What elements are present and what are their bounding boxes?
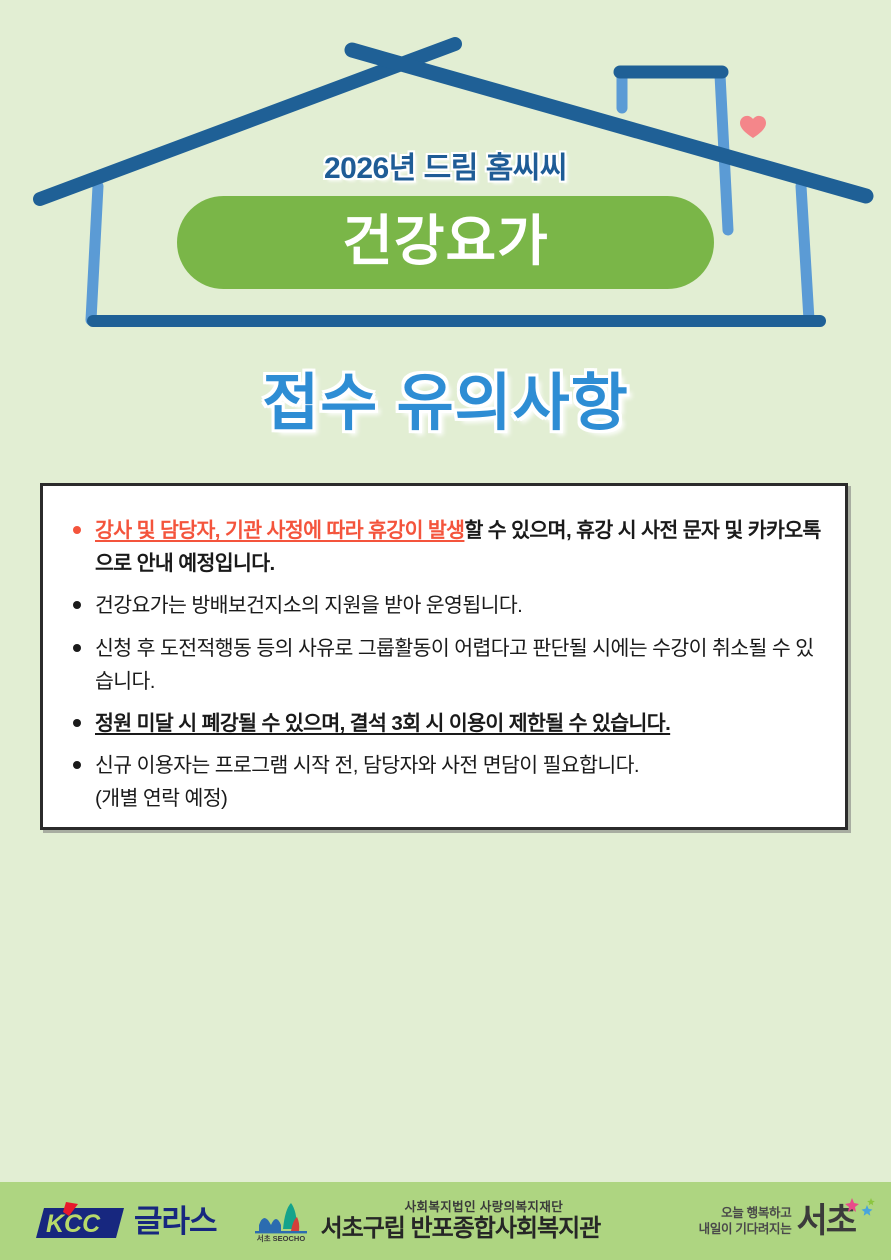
notice-segment: 신청 후 도전적행동 등의 사유로 그룹활동이 어렵다고 판단될 시에는 수강이…	[95, 637, 814, 693]
program-title-label: 건강요가	[342, 214, 548, 269]
house-right-wall	[801, 186, 809, 320]
notice-segment: 신규 이용자는 프로그램 시작 전, 담당자와 사전 면담이 필요합니다.	[95, 754, 639, 777]
notice-segment: (개별 연락 예정)	[95, 782, 823, 815]
seocho-wordmark: 서초	[796, 1204, 855, 1238]
house-left-wall	[91, 186, 98, 320]
section-title: 접수 유의사항	[0, 352, 891, 442]
logo-kcc-glass: KCC 글라스	[36, 1202, 217, 1240]
footer-bar: KCC 글라스 서초 SEOCHO	[0, 1182, 891, 1260]
seocho-stars-icon	[843, 1196, 877, 1226]
banpo-text-block: 사회복지법인 사랑의복지재단 서초구립 반포종합사회복지관	[321, 1201, 601, 1241]
banpo-center-name: 서초구립 반포종합사회복지관	[321, 1216, 601, 1241]
seocho-emblem-graphic: 서초 SEOCHO	[253, 1199, 311, 1243]
notice-item: 정원 미달 시 폐강될 수 있으며, 결석 3회 시 이용이 제한될 수 있습니…	[65, 707, 823, 740]
logo-seocho-district: 오늘 행복하고 내일이 기다려지는 서초	[699, 1204, 855, 1238]
seocho-slogan: 오늘 행복하고 내일이 기다려지는	[699, 1205, 792, 1238]
house-illustration: 2026년 드림 홈씨씨 건강요가	[0, 0, 891, 345]
notice-item: 신규 이용자는 프로그램 시작 전, 담당자와 사전 면담이 필요합니다.(개별…	[65, 749, 823, 815]
notice-item: 건강요가는 방배보건지소의 지원을 받아 운영됩니다.	[65, 589, 823, 622]
seocho-slogan-line2: 내일이 기다려지는	[699, 1221, 792, 1237]
logo-banpo-welfare-center: 서초 SEOCHO 사회복지법인 사랑의복지재단 서초구립 반포종합사회복지관	[253, 1199, 601, 1243]
house-subtitle: 2026년 드림 홈씨씨	[0, 143, 891, 187]
notice-item: 신청 후 도전적행동 등의 사유로 그룹활동이 어렵다고 판단될 시에는 수강이…	[65, 632, 823, 698]
program-title-pill: 건강요가	[177, 196, 714, 289]
seocho-emblem-icon: 서초 SEOCHO	[253, 1199, 311, 1243]
kcc-mark-icon: KCC	[36, 1202, 124, 1240]
notice-box: 강사 및 담당자, 기관 사정에 따라 휴강이 발생할 수 있으며, 휴강 시 …	[40, 483, 848, 830]
notice-segment: 정원 미달 시 폐강될 수 있으며, 결석 3회 시 이용이 제한될 수 있습니…	[95, 712, 670, 735]
kcc-mark-text: KCC	[46, 1210, 101, 1238]
poster-root: 2026년 드림 홈씨씨 건강요가 접수 유의사항 강사 및 담당자, 기관 사…	[0, 0, 891, 1260]
notice-list: 강사 및 담당자, 기관 사정에 따라 휴강이 발생할 수 있으며, 휴강 시 …	[43, 486, 845, 816]
notice-segment: 강사 및 담당자, 기관 사정에 따라 휴강이 발생	[95, 519, 464, 542]
footer-logos: KCC 글라스 서초 SEOCHO	[0, 1199, 891, 1243]
banpo-foundation-line: 사회복지법인 사랑의복지재단	[405, 1201, 601, 1214]
notice-segment: 건강요가는 방배보건지소의 지원을 받아 운영됩니다.	[95, 594, 522, 617]
heart-icon	[740, 116, 766, 138]
kcc-logo-mark: KCC	[36, 1202, 124, 1240]
kcc-label: 글라스	[134, 1206, 217, 1237]
seocho-emblem-caption: 서초 SEOCHO	[256, 1233, 305, 1243]
notice-item: 강사 및 담당자, 기관 사정에 따라 휴강이 발생할 수 있으며, 휴강 시 …	[65, 514, 823, 580]
seocho-slogan-line1: 오늘 행복하고	[699, 1205, 792, 1221]
